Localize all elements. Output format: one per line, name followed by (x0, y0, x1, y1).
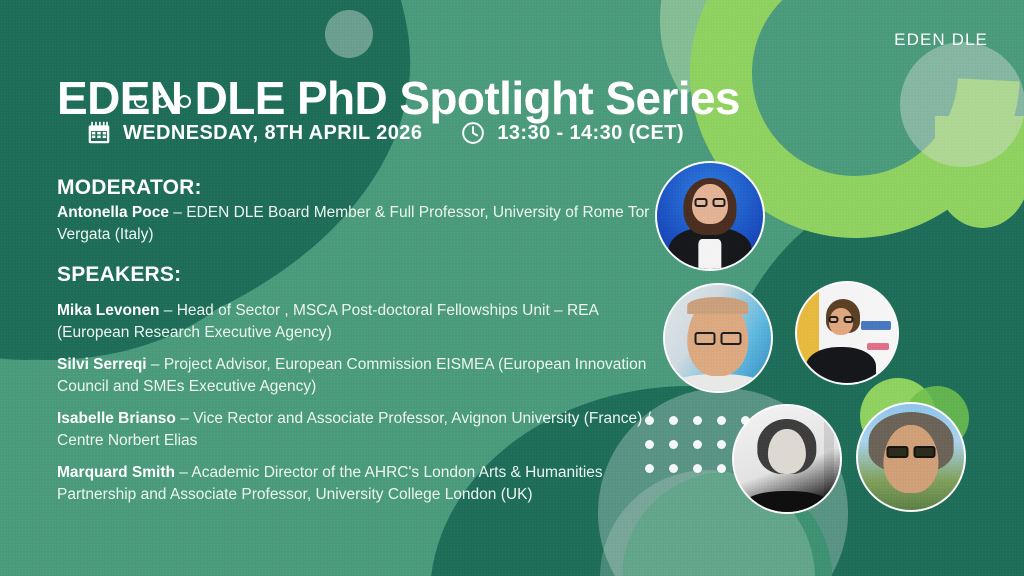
speaker-separator: – (176, 410, 193, 427)
decor-ghost-circle-title (325, 10, 373, 58)
clock-icon (460, 120, 486, 146)
avatar-photo (657, 163, 763, 269)
people-block: MODERATOR: Antonella Poce – EDEN DLE Boa… (57, 176, 657, 505)
avatar-photo (797, 283, 897, 383)
grid-dot (669, 416, 678, 425)
title-dot (156, 95, 169, 108)
avatar-antonella-poce (655, 161, 765, 271)
avatar-photo (734, 406, 840, 512)
avatar-photo (858, 404, 964, 510)
moderator-name: Antonella Poce (57, 204, 169, 221)
avatar-marquard-smith (856, 402, 966, 512)
speaker-name: Mika Levonen (57, 302, 160, 319)
title-dot (178, 95, 191, 108)
event-time: 13:30 - 14:30 (CET) (460, 120, 684, 146)
avatar-isabelle-brianso (732, 404, 842, 514)
speaker-separator: – (175, 464, 191, 481)
avatar-silvi-serreqi (795, 281, 899, 385)
event-meta-row: WEDNESDAY, 8TH APRIL 2026 13:30 - 14:30 … (86, 120, 684, 146)
grid-dot (717, 416, 726, 425)
calendar-icon (86, 120, 112, 146)
webinar-poster: EDEN DLE EDEN DLE PhD Spotlight Series (0, 0, 1024, 576)
grid-dot (669, 464, 678, 473)
decor-ghost-circle-top-right (900, 42, 1024, 167)
brand-wordmark: EDEN DLE (894, 30, 988, 50)
decor-title-dots (134, 95, 191, 108)
speaker-separator: – (160, 302, 177, 319)
event-time-text: 13:30 - 14:30 (CET) (497, 122, 684, 145)
speaker-entry: Mika Levonen – Head of Sector , MSCA Pos… (57, 300, 657, 343)
grid-dot (717, 464, 726, 473)
grid-dot (693, 416, 702, 425)
grid-dot (717, 440, 726, 449)
moderator-entry: Antonella Poce – EDEN DLE Board Member &… (57, 202, 657, 245)
event-date-text: WEDNESDAY, 8TH APRIL 2026 (123, 122, 422, 145)
moderator-heading: MODERATOR: (57, 176, 657, 200)
speaker-name: Marquard Smith (57, 464, 175, 481)
avatar-mika-levonen (663, 283, 773, 393)
title-dot (134, 95, 147, 108)
speaker-separator: – (147, 356, 164, 373)
grid-dot (693, 464, 702, 473)
grid-dot (669, 440, 678, 449)
grid-dot (693, 440, 702, 449)
speaker-name: Isabelle Brianso (57, 410, 176, 427)
avatar-photo (665, 285, 771, 391)
speaker-entry: Silvi Serreqi – Project Advisor, Europea… (57, 354, 657, 397)
speaker-entry: Marquard Smith – Academic Director of th… (57, 462, 657, 505)
speaker-entry: Isabelle Brianso – Vice Rector and Assoc… (57, 408, 657, 451)
speakers-heading: SPEAKERS: (57, 263, 657, 287)
speaker-name: Silvi Serreqi (57, 356, 147, 373)
moderator-separator: – (169, 204, 186, 221)
event-date: WEDNESDAY, 8TH APRIL 2026 (86, 120, 422, 146)
